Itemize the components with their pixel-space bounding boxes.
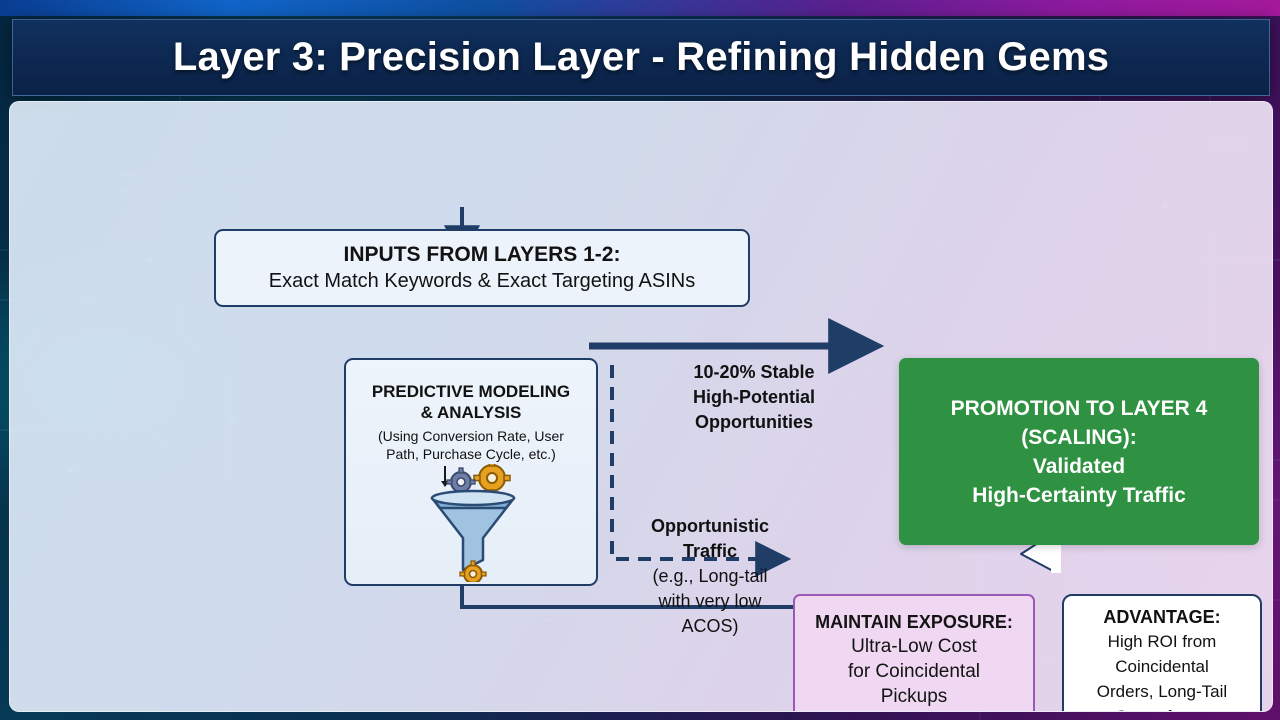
title-band: Layer 3: Precision Layer - Refining Hidd… xyxy=(12,19,1270,96)
opportunistic-line2: Traffic xyxy=(622,539,798,564)
opportunistic-line1: Opportunistic xyxy=(622,514,798,539)
maintain-line1: Ultra-Low Cost xyxy=(851,634,977,659)
continuous-line1: Continuous Monitoring xyxy=(480,707,782,712)
advantage-line2: Coincidental xyxy=(1115,654,1209,679)
predictive-sub-line2: Path, Purchase Cycle, etc.) xyxy=(346,445,596,463)
advantage-line3: Orders, Long-Tail xyxy=(1097,679,1227,704)
inputs-detail: Exact Match Keywords & Exact Targeting A… xyxy=(269,268,695,294)
inputs-box[interactable]: INPUTS FROM LAYERS 1-2: Exact Match Keyw… xyxy=(214,229,750,307)
opportunistic-line3: (e.g., Long-tail xyxy=(622,564,798,589)
advantage-callout-box[interactable]: ADVANTAGE: High ROI from Coincidental Or… xyxy=(1062,594,1262,712)
promotion-line1: PROMOTION TO LAYER 4 xyxy=(951,394,1208,423)
funnel-gears-icon: ↓ xyxy=(346,464,600,582)
stable-line2: High-Potential xyxy=(640,385,868,410)
promotion-line4: High-Certainty Traffic xyxy=(951,481,1208,510)
stable-opportunities-label: 10-20% Stable High-Potential Opportuniti… xyxy=(640,360,868,435)
advantage-line1: High ROI from xyxy=(1108,629,1217,654)
stable-line3: Opportunities xyxy=(640,410,868,435)
predictive-sub-line1: (Using Conversion Rate, User xyxy=(346,427,596,445)
promotion-to-layer4-box[interactable]: PROMOTION TO LAYER 4 (SCALING): Validate… xyxy=(899,358,1259,545)
diagram-panel: INPUTS FROM LAYERS 1-2: Exact Match Keyw… xyxy=(9,101,1273,712)
predictive-title-line1: PREDICTIVE MODELING xyxy=(346,381,596,402)
predictive-title-line2: & ANALYSIS xyxy=(346,402,596,423)
maintain-line2: for Coincidental xyxy=(848,659,980,684)
advantage-line4: Outperforms xyxy=(1115,704,1209,713)
promotion-line3: Validated xyxy=(951,452,1208,481)
maintain-line3: Pickups xyxy=(881,684,948,709)
page-title: Layer 3: Precision Layer - Refining Hidd… xyxy=(13,20,1269,95)
stable-line1: 10-20% Stable xyxy=(640,360,868,385)
continuous-monitoring-label: Continuous Monitoring for Promotion xyxy=(480,707,782,712)
inputs-heading: INPUTS FROM LAYERS 1-2: xyxy=(344,242,621,268)
maintain-exposure-box[interactable]: MAINTAIN EXPOSURE: Ultra-Low Cost for Co… xyxy=(793,594,1035,712)
advantage-title: ADVANTAGE: xyxy=(1103,605,1220,629)
opportunistic-line5: ACOS) xyxy=(622,614,798,639)
slide-canvas: Layer 3: Precision Layer - Refining Hidd… xyxy=(0,0,1280,720)
predictive-modeling-box[interactable]: PREDICTIVE MODELING & ANALYSIS (Using Co… xyxy=(344,358,598,586)
opportunistic-traffic-label: Opportunistic Traffic (e.g., Long-tail w… xyxy=(622,514,798,639)
maintain-title: MAINTAIN EXPOSURE: xyxy=(815,611,1013,634)
promotion-line2: (SCALING): xyxy=(951,423,1208,452)
top-accent-bar xyxy=(0,0,1280,16)
opportunistic-line4: with very low xyxy=(622,589,798,614)
